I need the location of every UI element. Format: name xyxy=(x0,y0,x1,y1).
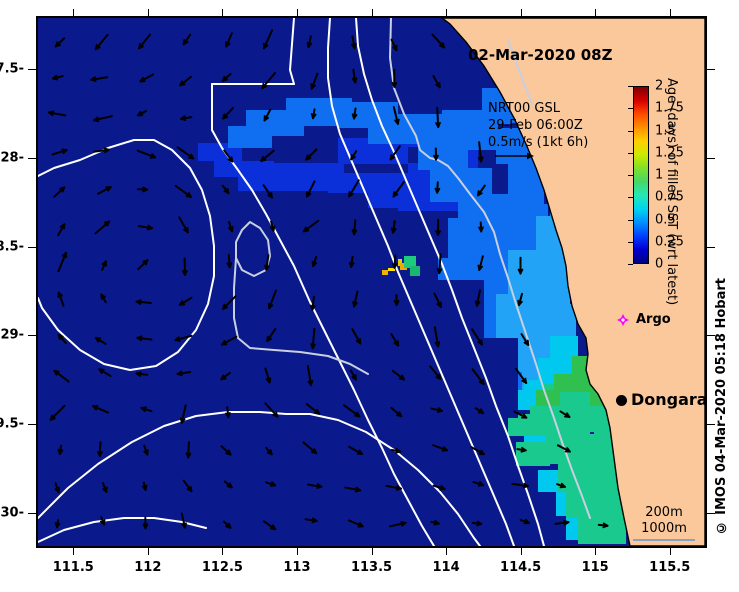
colorbar-tick xyxy=(628,108,633,109)
x-tick xyxy=(446,548,447,555)
x-tick xyxy=(73,548,74,555)
y-tick xyxy=(28,247,36,248)
annotation-line-1: NRT00 GSL xyxy=(488,100,588,117)
x-tick-label-8: 115.5 xyxy=(649,560,690,575)
colorbar-tick xyxy=(628,175,633,176)
colorbar[interactable] xyxy=(633,86,649,264)
x-tick-top xyxy=(297,9,298,16)
colorbar-tick-label-0: 2 xyxy=(655,79,663,94)
colorbar-tick xyxy=(628,264,633,265)
x-tick-label-3: 113 xyxy=(283,560,310,575)
x-tick-top xyxy=(670,9,671,16)
x-tick-label-7: 115 xyxy=(582,560,609,575)
bathymetry-scale-legend: 200m 1000m xyxy=(633,505,695,541)
map-title-date: 02-Mar-2020 08Z xyxy=(468,46,613,64)
x-tick-top xyxy=(148,9,149,16)
colorbar-tick xyxy=(628,131,633,132)
y-tick xyxy=(28,335,36,336)
x-tick-top xyxy=(595,9,596,16)
argo-marker[interactable] xyxy=(38,18,705,546)
y-tick-right xyxy=(707,247,715,248)
y-tick-right xyxy=(707,69,715,70)
colorbar-tick xyxy=(628,153,633,154)
colorbar-gradient xyxy=(634,87,648,263)
x-tick xyxy=(372,548,373,555)
x-tick-top xyxy=(222,9,223,16)
colorbar-tick xyxy=(628,242,633,243)
scale-line xyxy=(633,539,695,541)
x-tick-label-6: 114.5 xyxy=(500,560,541,575)
x-tick-top xyxy=(372,9,373,16)
x-tick xyxy=(521,548,522,555)
y-tick xyxy=(28,69,36,70)
y-tick xyxy=(28,158,36,159)
figure-root: Argo Dongara 02-Mar-2020 08Z NRT00 GSL 2… xyxy=(0,0,739,592)
colorbar-tick xyxy=(628,86,633,87)
dongara-marker[interactable] xyxy=(616,395,627,406)
model-annotation: NRT00 GSL 29-Feb 06:00Z 0.5m/s (1kt 6h) xyxy=(488,100,588,151)
x-tick xyxy=(670,548,671,555)
colorbar-tick-label-8: 0 xyxy=(655,257,663,272)
depth-label-200m: 200m xyxy=(633,505,695,521)
dongara-label: Dongara xyxy=(631,390,705,409)
map-plot-area[interactable]: Argo Dongara 02-Mar-2020 08Z NRT00 GSL 2… xyxy=(36,16,707,548)
y-tick xyxy=(28,513,36,514)
x-tick-top xyxy=(446,9,447,16)
y-tick-right xyxy=(707,158,715,159)
x-tick xyxy=(595,548,596,555)
velocity-scale-arrow-icon xyxy=(493,150,537,162)
x-tick-top xyxy=(73,9,74,16)
argo-label: Argo xyxy=(636,312,671,327)
x-tick-top xyxy=(521,9,522,16)
colorbar-tick-label-4: 1 xyxy=(655,168,663,183)
depth-label-1000m: 1000m xyxy=(633,521,695,537)
x-tick-label-1: 112 xyxy=(134,560,161,575)
map-canvas: Argo Dongara 02-Mar-2020 08Z NRT00 GSL 2… xyxy=(38,18,705,546)
x-tick-label-2: 112.5 xyxy=(202,560,243,575)
annotation-line-3: 0.5m/s (1kt 6h) xyxy=(488,134,588,151)
x-tick xyxy=(222,548,223,555)
x-tick xyxy=(297,548,298,555)
y-tick xyxy=(28,424,36,425)
colorbar-title: Age (days) of filled SST (wrt latest) xyxy=(664,78,679,305)
x-tick-label-0: 111.5 xyxy=(53,560,94,575)
copyright-credit: © IMOS 04-Mar-2020 05:18 Hobart xyxy=(714,278,729,534)
colorbar-tick xyxy=(628,197,633,198)
colorbar-tick xyxy=(628,220,633,221)
x-tick-label-5: 114 xyxy=(432,560,459,575)
x-tick-label-4: 113.5 xyxy=(351,560,392,575)
annotation-line-2: 29-Feb 06:00Z xyxy=(488,117,588,134)
x-tick xyxy=(148,548,149,555)
